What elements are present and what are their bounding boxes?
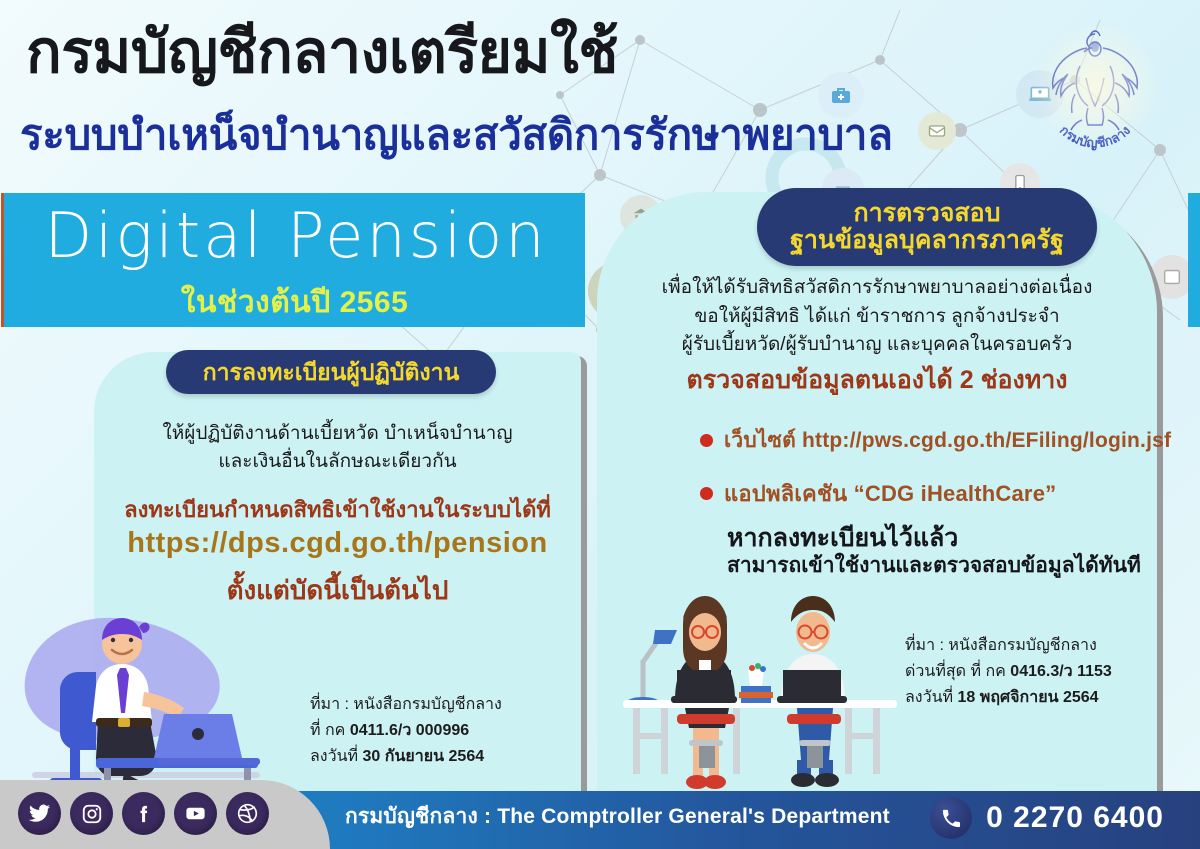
- twitter-icon[interactable]: [18, 792, 61, 835]
- left-source-doc-label: ที่ กค: [310, 722, 350, 739]
- right-card-source-line3: ลงวันที่ 18 พฤศจิกายน 2564: [905, 685, 1175, 711]
- channel-app: แอปพลิเคชัน “CDG iHealthCare”: [724, 476, 1056, 511]
- instagram-icon[interactable]: [70, 792, 113, 835]
- digital-pension-banner: Digital Pension ในช่วงต้นปี 2565: [4, 193, 585, 327]
- footer-contact[interactable]: 0 2270 6400: [930, 797, 1164, 839]
- left-card-source: ที่มา : หนังสือกรมบัญชีกลาง ที่ กค 0411.…: [310, 692, 570, 770]
- hero-edge-strip: [1188, 193, 1200, 327]
- footer-phone-number: 0 2270 6400: [986, 801, 1164, 835]
- right-source-date: 18 พฤศจิกายน 2564: [958, 689, 1099, 706]
- left-card-body-line2: และเงินอื่นในลักษณะเดียวกัน: [94, 448, 581, 476]
- left-card-pill-title: การลงทะเบียนผู้ปฏิบัติงาน: [166, 350, 496, 394]
- left-card-body-line1: ให้ผู้ปฏิบัติงานด้านเบี้ยหวัด บำเหน็จบำน…: [94, 420, 581, 448]
- left-source-date-label: ลงวันที่: [310, 748, 363, 765]
- bullet-dot-icon: [700, 487, 713, 500]
- left-card-source-line2: ที่ กค 0411.6/ว 000996: [310, 718, 570, 744]
- right-card-body-line1: เพื่อให้ได้รับสิทธิสวัสดิการรักษาพยาบาลอ…: [597, 274, 1157, 303]
- left-card-url[interactable]: https://dps.cgd.go.th/pension: [94, 527, 581, 560]
- left-card-body: ให้ผู้ปฏิบัติงานด้านเบี้ยหวัด บำเหน็จบำน…: [94, 420, 581, 475]
- garuda-emblem-logo: กรมบัญชีกลาง: [1020, 16, 1170, 166]
- right-card-note-line2: สามารถเข้าใช้งานและตรวจสอบข้อมูลได้ทันที: [727, 549, 1141, 582]
- right-card-source-line2: ด่วนที่สุด ที่ กค 0416.3/ว 1153: [905, 659, 1175, 685]
- right-pill-line1: การตรวจสอบ: [790, 200, 1064, 227]
- banner-subtitle: ในช่วงต้นปี 2565: [4, 279, 585, 326]
- right-card-body-line2: ขอให้ผู้มีสิทธิ ได้แก่ ข้าราชการ ลูกจ้าง…: [597, 303, 1157, 332]
- right-card-body: เพื่อให้ได้รับสิทธิสวัสดิการรักษาพยาบาลอ…: [597, 274, 1157, 360]
- right-card-pill-title: การตรวจสอบ ฐานข้อมูลบุคลากรภาครัฐ: [757, 188, 1097, 266]
- two-people-at-desk-illustration: [615, 588, 905, 793]
- right-card-body-line3: ผู้รับเบี้ยหวัด/ผู้รับบำนาญ และบุคคลในคร…: [597, 331, 1157, 360]
- left-source-date: 30 กันยายน 2564: [363, 748, 485, 765]
- phone-icon: [930, 797, 972, 839]
- right-card-channel-list: เว็บไซต์ http://pws.cgd.go.th/EFiling/lo…: [700, 424, 1170, 530]
- left-source-doc-no: 0411.6/ว 000996: [350, 722, 469, 739]
- channel-website: เว็บไซต์ http://pws.cgd.go.th/EFiling/lo…: [724, 424, 1171, 457]
- bullet-dot-icon: [700, 434, 713, 447]
- youtube-icon[interactable]: [174, 792, 217, 835]
- left-card-highlight: ลงทะเบียนกำหนดสิทธิเข้าใช้งานในระบบได้ที…: [94, 496, 581, 525]
- left-card-source-line1: ที่มา : หนังสือกรมบัญชีกลาง: [310, 692, 570, 718]
- infographic-poster: กรมบัญชีกลางเตรียมใช้ ระบบบำเหน็จบำนาญแล…: [0, 0, 1200, 849]
- page-title: กรมบัญชีกลางเตรียมใช้: [26, 22, 618, 84]
- right-card-source-line1: ที่มา : หนังสือกรมบัญชีกลาง: [905, 633, 1175, 659]
- right-source-date-label: ลงวันที่: [905, 689, 958, 706]
- social-links: [18, 792, 269, 835]
- page-subtitle: ระบบบำเหน็จบำนาญและสวัสดิการรักษาพยาบาล: [20, 113, 893, 157]
- footer-org-text: กรมบัญชีกลาง : The Comptroller General's…: [345, 800, 890, 833]
- list-item[interactable]: แอปพลิเคชัน “CDG iHealthCare”: [700, 476, 1170, 511]
- right-source-doc-no: 0416.3/ว 1153: [1010, 663, 1112, 680]
- right-source-doc-label: ด่วนที่สุด ที่ กค: [905, 663, 1010, 680]
- banner-title: Digital Pension: [26, 203, 566, 268]
- right-pill-line2: ฐานข้อมูลบุคลากรภาครัฐ: [790, 227, 1064, 254]
- left-card-source-line3: ลงวันที่ 30 กันยายน 2564: [310, 744, 570, 770]
- dribbble-icon[interactable]: [226, 792, 269, 835]
- list-item[interactable]: เว็บไซต์ http://pws.cgd.go.th/EFiling/lo…: [700, 424, 1170, 457]
- right-card-highlight: ตรวจสอบข้อมูลตนเองได้ 2 ช่องทาง: [597, 360, 1157, 400]
- man-at-desk-illustration: [8, 582, 308, 804]
- right-card-source: ที่มา : หนังสือกรมบัญชีกลาง ด่วนที่สุด ท…: [905, 633, 1175, 711]
- facebook-icon[interactable]: [122, 792, 165, 835]
